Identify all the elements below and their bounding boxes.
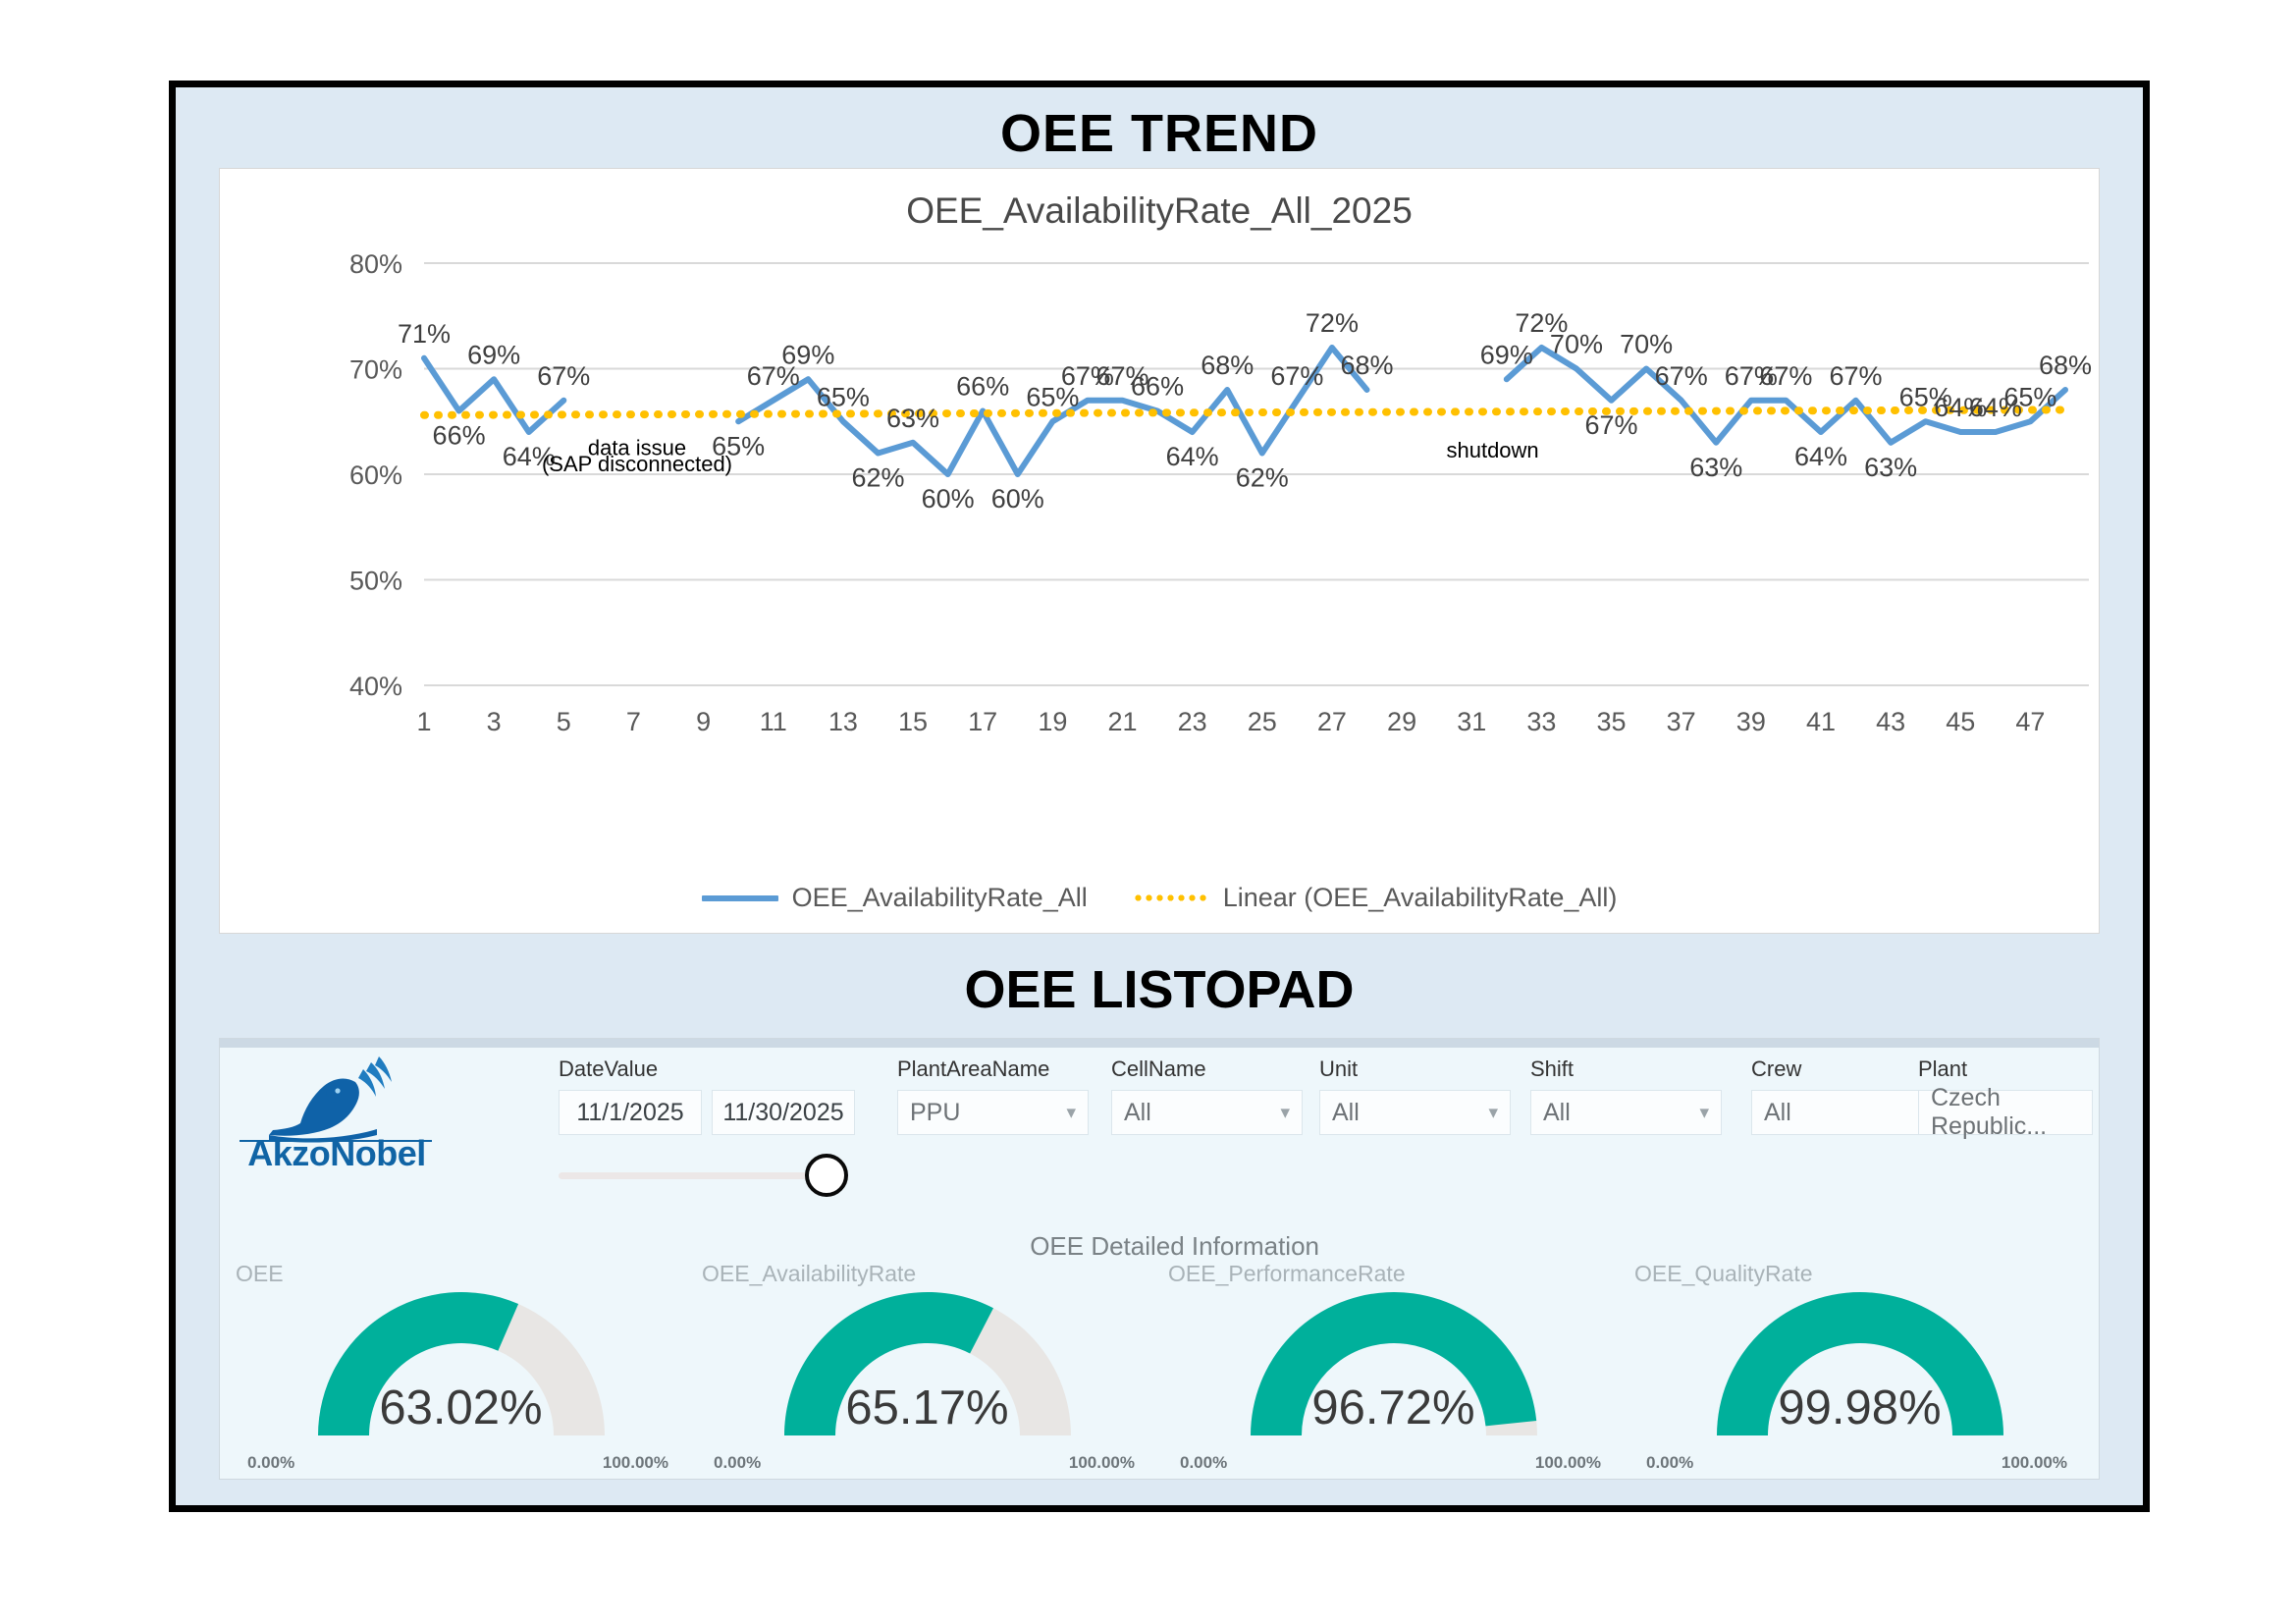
- svg-text:37: 37: [1667, 707, 1696, 736]
- date-range-inputs: 11/1/2025 11/30/2025: [559, 1090, 855, 1135]
- slicer-value-unit: All: [1332, 1099, 1360, 1127]
- gauge-quality-rate[interactable]: OEE_QualityRate 99.98% 0.00% 100.00%: [1627, 1278, 2093, 1475]
- svg-text:68%: 68%: [2039, 351, 2092, 380]
- svg-text:69%: 69%: [1480, 340, 1533, 369]
- gauge-title-quality-rate: OEE_QualityRate: [1634, 1261, 1813, 1287]
- slicer-plantareaname: PlantAreaName PPU ▾: [897, 1056, 1089, 1135]
- date-slider-track[interactable]: [559, 1172, 833, 1179]
- slicer-datevalue: DateValue 11/1/2025 11/30/2025: [559, 1056, 855, 1135]
- svg-text:60%: 60%: [349, 460, 402, 490]
- legend-label-series: OEE_AvailabilityRate_All: [792, 883, 1088, 913]
- svg-text:72%: 72%: [1306, 308, 1359, 338]
- slicer-cellname: CellName All ▾: [1111, 1056, 1303, 1135]
- slicer-dropdown-shift[interactable]: All ▾: [1530, 1090, 1722, 1135]
- svg-text:67%: 67%: [1655, 361, 1708, 391]
- slide-frame: OEE TREND OEE_AvailabilityRate_All_2025 …: [169, 81, 2150, 1512]
- svg-text:67%: 67%: [537, 361, 590, 391]
- line-swatch-icon: [702, 895, 778, 901]
- svg-text:60%: 60%: [991, 484, 1044, 514]
- svg-text:13: 13: [828, 707, 858, 736]
- gauge-min-quality-rate: 0.00%: [1646, 1453, 1693, 1473]
- chevron-down-icon: ▾: [1066, 1102, 1076, 1124]
- gauge-value-oee: 63.02%: [379, 1380, 542, 1435]
- chevron-down-icon: ▾: [1488, 1102, 1498, 1124]
- svg-text:65%: 65%: [2003, 382, 2056, 411]
- slicer-label-datevalue: DateValue: [559, 1056, 855, 1082]
- svg-text:64%: 64%: [1794, 442, 1847, 471]
- svg-text:67%: 67%: [1759, 361, 1812, 391]
- slicer-dropdown-crew[interactable]: All ▾: [1751, 1090, 1943, 1135]
- gauge-title-availability-rate: OEE_AvailabilityRate: [702, 1261, 916, 1287]
- chart-svg: 40%50%60%70%80%1357911131517192123252729…: [220, 244, 2101, 840]
- slicer-unit: Unit All ▾: [1319, 1056, 1511, 1135]
- svg-text:65%: 65%: [817, 382, 870, 411]
- svg-text:67%: 67%: [1270, 361, 1323, 391]
- slicer-label-plant: Plant: [1918, 1056, 2093, 1082]
- slicer-value-plantareaname: PPU: [910, 1099, 960, 1127]
- svg-text:15: 15: [898, 707, 928, 736]
- svg-text:41: 41: [1806, 707, 1836, 736]
- gauge-max-availability-rate: 100.00%: [1069, 1453, 1135, 1473]
- slicer-shift: Shift All ▾: [1530, 1056, 1722, 1135]
- slicer-plant: Plant Czech Republic...: [1918, 1056, 2093, 1135]
- svg-text:1: 1: [416, 707, 431, 736]
- svg-text:29: 29: [1387, 707, 1416, 736]
- svg-text:27: 27: [1317, 707, 1347, 736]
- gauge-max-oee: 100.00%: [603, 1453, 668, 1473]
- gauge-oee[interactable]: OEE 63.02% 0.00% 100.00%: [228, 1278, 694, 1475]
- svg-text:5: 5: [557, 707, 571, 736]
- slicer-value-shift: All: [1543, 1099, 1571, 1127]
- chevron-down-icon: ▾: [1280, 1102, 1290, 1124]
- svg-text:63%: 63%: [1864, 453, 1917, 482]
- svg-text:43: 43: [1876, 707, 1905, 736]
- gauge-value-performance-rate: 96.72%: [1311, 1380, 1474, 1435]
- svg-text:68%: 68%: [1201, 351, 1254, 380]
- slicer-value-plant: Czech Republic...: [1931, 1084, 2080, 1141]
- logo-wordmark: AkzoNobel: [234, 1133, 440, 1174]
- date-slider-knob[interactable]: [805, 1154, 848, 1197]
- legend-item-series[interactable]: OEE_AvailabilityRate_All: [702, 883, 1088, 913]
- line-chart-plot: 40%50%60%70%80%1357911131517192123252729…: [220, 244, 2101, 840]
- svg-text:70%: 70%: [1620, 330, 1673, 359]
- svg-text:40%: 40%: [349, 672, 402, 701]
- gauge-min-availability-rate: 0.00%: [714, 1453, 761, 1473]
- svg-text:80%: 80%: [349, 249, 402, 279]
- gauge-title-oee: OEE: [236, 1261, 284, 1287]
- svg-text:19: 19: [1038, 707, 1067, 736]
- svg-text:35: 35: [1597, 707, 1627, 736]
- powerbi-report-panel: AkzoNobel DateValue 11/1/2025 11/30/2025…: [219, 1038, 2100, 1480]
- legend-item-trendline[interactable]: Linear (OEE_AvailabilityRate_All): [1133, 883, 1618, 913]
- svg-text:50%: 50%: [349, 567, 402, 596]
- detail-information-caption: OEE Detailed Information: [220, 1231, 1319, 1262]
- svg-text:66%: 66%: [956, 372, 1009, 402]
- page-title-listopad: OEE LISTOPAD: [176, 959, 2143, 1020]
- svg-text:64%: 64%: [1166, 442, 1219, 471]
- svg-text:63%: 63%: [1689, 453, 1742, 482]
- gauge-availability-rate[interactable]: OEE_AvailabilityRate 65.17% 0.00% 100.00…: [694, 1278, 1160, 1475]
- slicer-label-shift: Shift: [1530, 1056, 1722, 1082]
- svg-text:69%: 69%: [467, 340, 520, 369]
- legend-label-trendline: Linear (OEE_AvailabilityRate_All): [1223, 883, 1618, 913]
- gauge-value-quality-rate: 99.98%: [1778, 1380, 1941, 1435]
- svg-text:71%: 71%: [398, 319, 451, 349]
- slicer-value-cellname: All: [1124, 1099, 1151, 1127]
- svg-text:70%: 70%: [349, 355, 402, 385]
- svg-text:9: 9: [696, 707, 711, 736]
- svg-text:21: 21: [1107, 707, 1137, 736]
- gauge-title-performance-rate: OEE_PerformanceRate: [1168, 1261, 1406, 1287]
- gauge-performance-rate[interactable]: OEE_PerformanceRate 96.72% 0.00% 100.00%: [1160, 1278, 1627, 1475]
- svg-text:67%: 67%: [1830, 361, 1883, 391]
- svg-text:66%: 66%: [433, 421, 486, 451]
- svg-text:68%: 68%: [1340, 351, 1393, 380]
- svg-text:62%: 62%: [1236, 463, 1289, 493]
- chevron-down-icon: ▾: [1699, 1102, 1709, 1124]
- svg-text:67%: 67%: [1585, 410, 1638, 440]
- svg-text:3: 3: [487, 707, 502, 736]
- dotted-line-swatch-icon: [1133, 894, 1209, 901]
- gauge-row: OEE 63.02% 0.00% 100.00% OEE_Availabilit…: [228, 1278, 2093, 1475]
- date-to-input[interactable]: 11/30/2025: [712, 1090, 855, 1135]
- slicer-label-unit: Unit: [1319, 1056, 1511, 1082]
- report-topbar: [220, 1039, 2099, 1048]
- page-title-trend: OEE TREND: [176, 103, 2143, 164]
- svg-text:25: 25: [1248, 707, 1277, 736]
- svg-text:11: 11: [760, 707, 787, 736]
- chart-legend: OEE_AvailabilityRate_All Linear (OEE_Ava…: [220, 883, 2099, 913]
- svg-text:60%: 60%: [922, 484, 975, 514]
- screenshot-root: OEE TREND OEE_AvailabilityRate_All_2025 …: [0, 0, 2296, 1624]
- svg-text:shutdown: shutdown: [1446, 438, 1538, 462]
- slicer-label-crew: Crew: [1751, 1056, 1943, 1082]
- oee-trend-chart-card: OEE_AvailabilityRate_All_2025 40%50%60%7…: [219, 168, 2100, 934]
- svg-text:7: 7: [626, 707, 641, 736]
- svg-text:17: 17: [968, 707, 997, 736]
- slicer-label-plantareaname: PlantAreaName: [897, 1056, 1089, 1082]
- svg-text:45: 45: [1946, 707, 1975, 736]
- svg-text:23: 23: [1178, 707, 1207, 736]
- svg-text:70%: 70%: [1550, 330, 1603, 359]
- gauge-min-performance-rate: 0.00%: [1180, 1453, 1227, 1473]
- svg-text:63%: 63%: [886, 404, 939, 433]
- gauge-max-quality-rate: 100.00%: [2002, 1453, 2067, 1473]
- svg-text:69%: 69%: [781, 340, 834, 369]
- gauge-min-oee: 0.00%: [247, 1453, 294, 1473]
- slicer-dropdown-unit[interactable]: All ▾: [1319, 1090, 1511, 1135]
- svg-text:(SAP disconnected): (SAP disconnected): [542, 452, 732, 476]
- slicer-value-crew: All: [1764, 1099, 1791, 1127]
- svg-text:66%: 66%: [1131, 372, 1184, 402]
- chart-title: OEE_AvailabilityRate_All_2025: [220, 190, 2099, 232]
- svg-text:31: 31: [1457, 707, 1486, 736]
- slicer-dropdown-plantareaname[interactable]: PPU ▾: [897, 1090, 1089, 1135]
- svg-text:33: 33: [1526, 707, 1556, 736]
- slicer-dropdown-cellname[interactable]: All ▾: [1111, 1090, 1303, 1135]
- svg-text:39: 39: [1736, 707, 1766, 736]
- slicer-label-cellname: CellName: [1111, 1056, 1303, 1082]
- slicer-crew: Crew All ▾: [1751, 1056, 1943, 1135]
- gauge-max-performance-rate: 100.00%: [1535, 1453, 1601, 1473]
- date-from-input[interactable]: 11/1/2025: [559, 1090, 702, 1135]
- svg-text:47: 47: [2015, 707, 2045, 736]
- gauge-value-availability-rate: 65.17%: [845, 1380, 1008, 1435]
- svg-text:62%: 62%: [851, 463, 904, 493]
- akzonobel-logo: AkzoNobel: [234, 1056, 440, 1174]
- slicer-dropdown-plant[interactable]: Czech Republic...: [1918, 1090, 2093, 1135]
